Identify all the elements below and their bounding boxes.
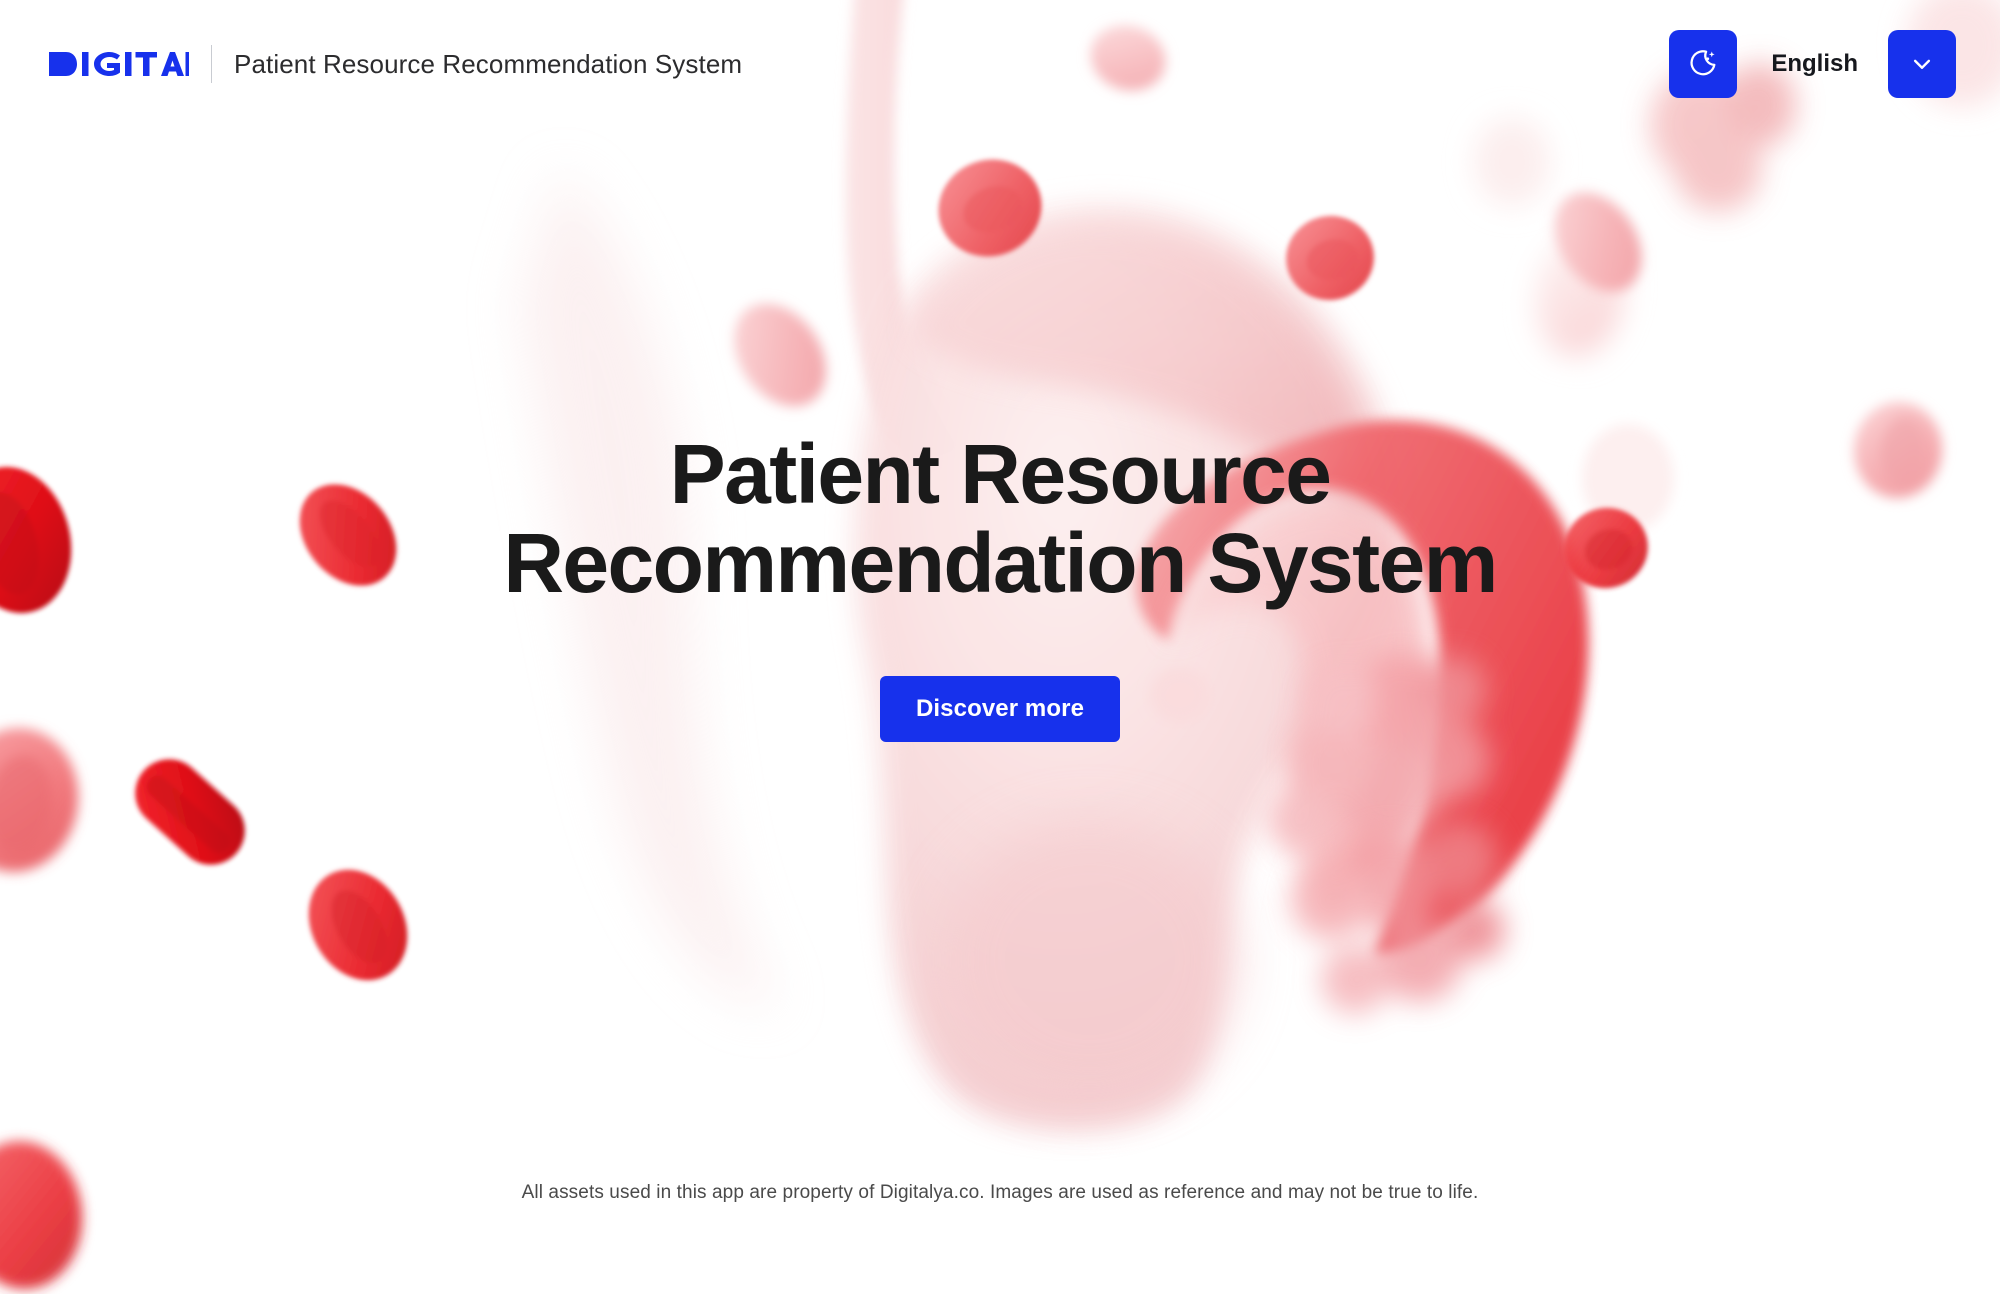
organ-ovary-cluster-lower: [1290, 822, 1505, 1014]
blood-cell: [1526, 226, 1634, 363]
brand-zone: Patient Resource Recommendation System: [44, 45, 742, 83]
header-actions: English: [1669, 30, 1956, 98]
page-title-line-2: Recommendation System: [503, 519, 1496, 608]
hero-section: Patient Resource Recommendation System D…: [0, 430, 2000, 742]
app-subtitle: Patient Resource Recommendation System: [234, 49, 742, 80]
digitalya-logo-icon[interactable]: [44, 51, 189, 77]
language-dropdown-button[interactable]: [1888, 30, 1956, 98]
app-header: Patient Resource Recommendation System E…: [0, 0, 2000, 128]
moon-stars-icon: [1686, 47, 1720, 81]
blood-cell: [1474, 118, 1550, 206]
brand-divider: [211, 45, 212, 83]
footer-disclaimer: All assets used in this app are property…: [0, 1182, 2000, 1204]
blood-cell: [0, 1135, 89, 1294]
language-label[interactable]: English: [1771, 50, 1858, 78]
blood-cell: [925, 145, 1056, 271]
blood-cell: [0, 720, 87, 880]
app-root: Patient Resource Recommendation System E…: [0, 0, 2000, 1294]
discover-more-button[interactable]: Discover more: [880, 676, 1120, 742]
blood-cell: [289, 852, 427, 998]
blood-cell: [121, 745, 259, 879]
page-title: Patient Resource Recommendation System: [503, 430, 1496, 608]
page-title-line-1: Patient Resource: [503, 430, 1496, 519]
blood-cell: [1536, 176, 1659, 308]
blood-cell: [715, 286, 845, 424]
chevron-down-icon: [1907, 49, 1937, 79]
dark-mode-toggle-button[interactable]: [1669, 30, 1737, 98]
blood-cell: [1278, 208, 1382, 308]
